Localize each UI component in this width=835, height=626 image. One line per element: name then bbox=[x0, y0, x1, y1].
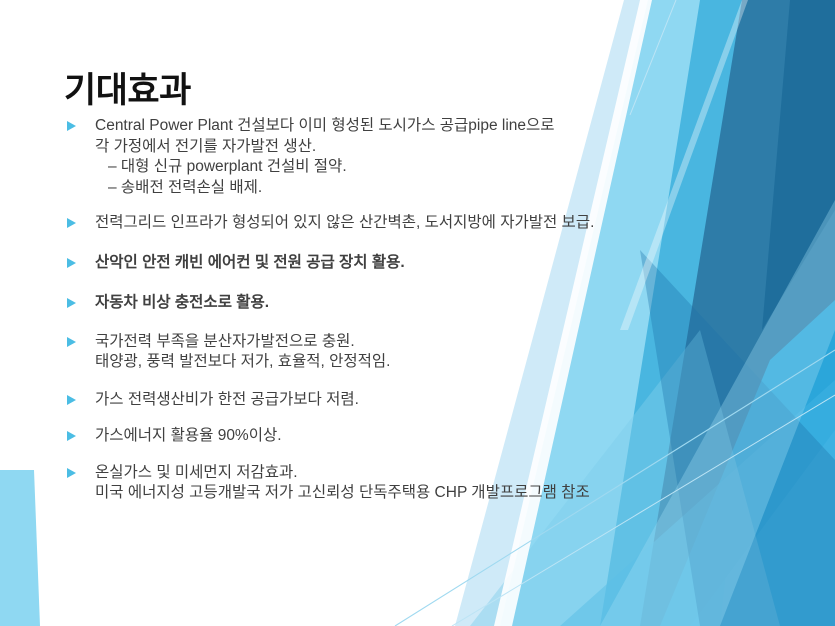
list-item: 가스에너지 활용율 90%이상. bbox=[64, 426, 764, 447]
list-item-line: 국가전력 부족을 분산자가발전으로 충원. bbox=[95, 332, 764, 353]
list-item: 자동차 비상 충전소로 활용. bbox=[64, 293, 764, 314]
list-item-text: 국가전력 부족을 분산자가발전으로 충원. 태양광, 풍력 발전보다 저가, 효… bbox=[95, 332, 764, 373]
list-item-line: 태양광, 풍력 발전보다 저가, 효율적, 안정적임. bbox=[95, 352, 764, 373]
triangle-right-icon bbox=[67, 298, 76, 308]
list-item-line: 미국 에너지성 고등개발국 저가 고신뢰성 단독주택용 CHP 개발프로그램 참… bbox=[95, 483, 764, 504]
list-item-line: 각 가정에서 전기를 자가발전 생산. bbox=[95, 137, 764, 158]
triangle-right-icon bbox=[67, 218, 76, 228]
list-item-line: 산악인 안전 캐빈 에어컨 및 전원 공급 장치 활용. bbox=[95, 253, 764, 274]
list-item-line: 온실가스 및 미세먼지 저감효과. bbox=[95, 463, 764, 484]
list-item-line: 가스에너지 활용율 90%이상. bbox=[95, 426, 764, 447]
presentation-slide: 기대효과 Central Power Plant 건설보다 이미 형성된 도시가… bbox=[0, 0, 835, 626]
list-item: 전력그리드 인프라가 형성되어 있지 않은 산간벽촌, 도서지방에 자가발전 보… bbox=[64, 213, 764, 234]
triangle-right-icon bbox=[67, 395, 76, 405]
list-item-line: 전력그리드 인프라가 형성되어 있지 않은 산간벽촌, 도서지방에 자가발전 보… bbox=[95, 213, 764, 234]
list-item-text: 자동차 비상 충전소로 활용. bbox=[95, 293, 764, 314]
list-item: 산악인 안전 캐빈 에어컨 및 전원 공급 장치 활용. bbox=[64, 253, 764, 274]
list-item-text: 가스에너지 활용율 90%이상. bbox=[95, 426, 764, 447]
list-item-subline: – 대형 신규 powerplant 건설비 절약. bbox=[95, 157, 764, 178]
list-item-subline: – 송배전 전력손실 배제. bbox=[95, 178, 764, 199]
page-title: 기대효과 bbox=[64, 71, 191, 111]
list-item-text: 전력그리드 인프라가 형성되어 있지 않은 산간벽촌, 도서지방에 자가발전 보… bbox=[95, 213, 764, 234]
slide-content: 기대효과 Central Power Plant 건설보다 이미 형성된 도시가… bbox=[0, 0, 835, 626]
list-item-line: 자동차 비상 충전소로 활용. bbox=[95, 293, 764, 314]
list-item-text: 산악인 안전 캐빈 에어컨 및 전원 공급 장치 활용. bbox=[95, 253, 764, 274]
list-item-text: 온실가스 및 미세먼지 저감효과. 미국 에너지성 고등개발국 저가 고신뢰성 … bbox=[95, 463, 764, 504]
list-item: 국가전력 부족을 분산자가발전으로 충원. 태양광, 풍력 발전보다 저가, 효… bbox=[64, 332, 764, 373]
list-item-line: 가스 전력생산비가 한전 공급가보다 저렴. bbox=[95, 390, 764, 411]
triangle-right-icon bbox=[67, 258, 76, 268]
list-item-line: Central Power Plant 건설보다 이미 형성된 도시가스 공급p… bbox=[95, 116, 764, 137]
triangle-right-icon bbox=[67, 431, 76, 441]
triangle-right-icon bbox=[67, 337, 76, 347]
list-item-text: Central Power Plant 건설보다 이미 형성된 도시가스 공급p… bbox=[95, 116, 764, 198]
list-item: 가스 전력생산비가 한전 공급가보다 저렴. bbox=[64, 390, 764, 411]
list-item: Central Power Plant 건설보다 이미 형성된 도시가스 공급p… bbox=[64, 116, 764, 198]
list-item-text: 가스 전력생산비가 한전 공급가보다 저렴. bbox=[95, 390, 764, 411]
bullet-list: Central Power Plant 건설보다 이미 형성된 도시가스 공급p… bbox=[64, 116, 764, 504]
list-item: 온실가스 및 미세먼지 저감효과. 미국 에너지성 고등개발국 저가 고신뢰성 … bbox=[64, 463, 764, 504]
triangle-right-icon bbox=[67, 121, 76, 131]
triangle-right-icon bbox=[67, 468, 76, 478]
